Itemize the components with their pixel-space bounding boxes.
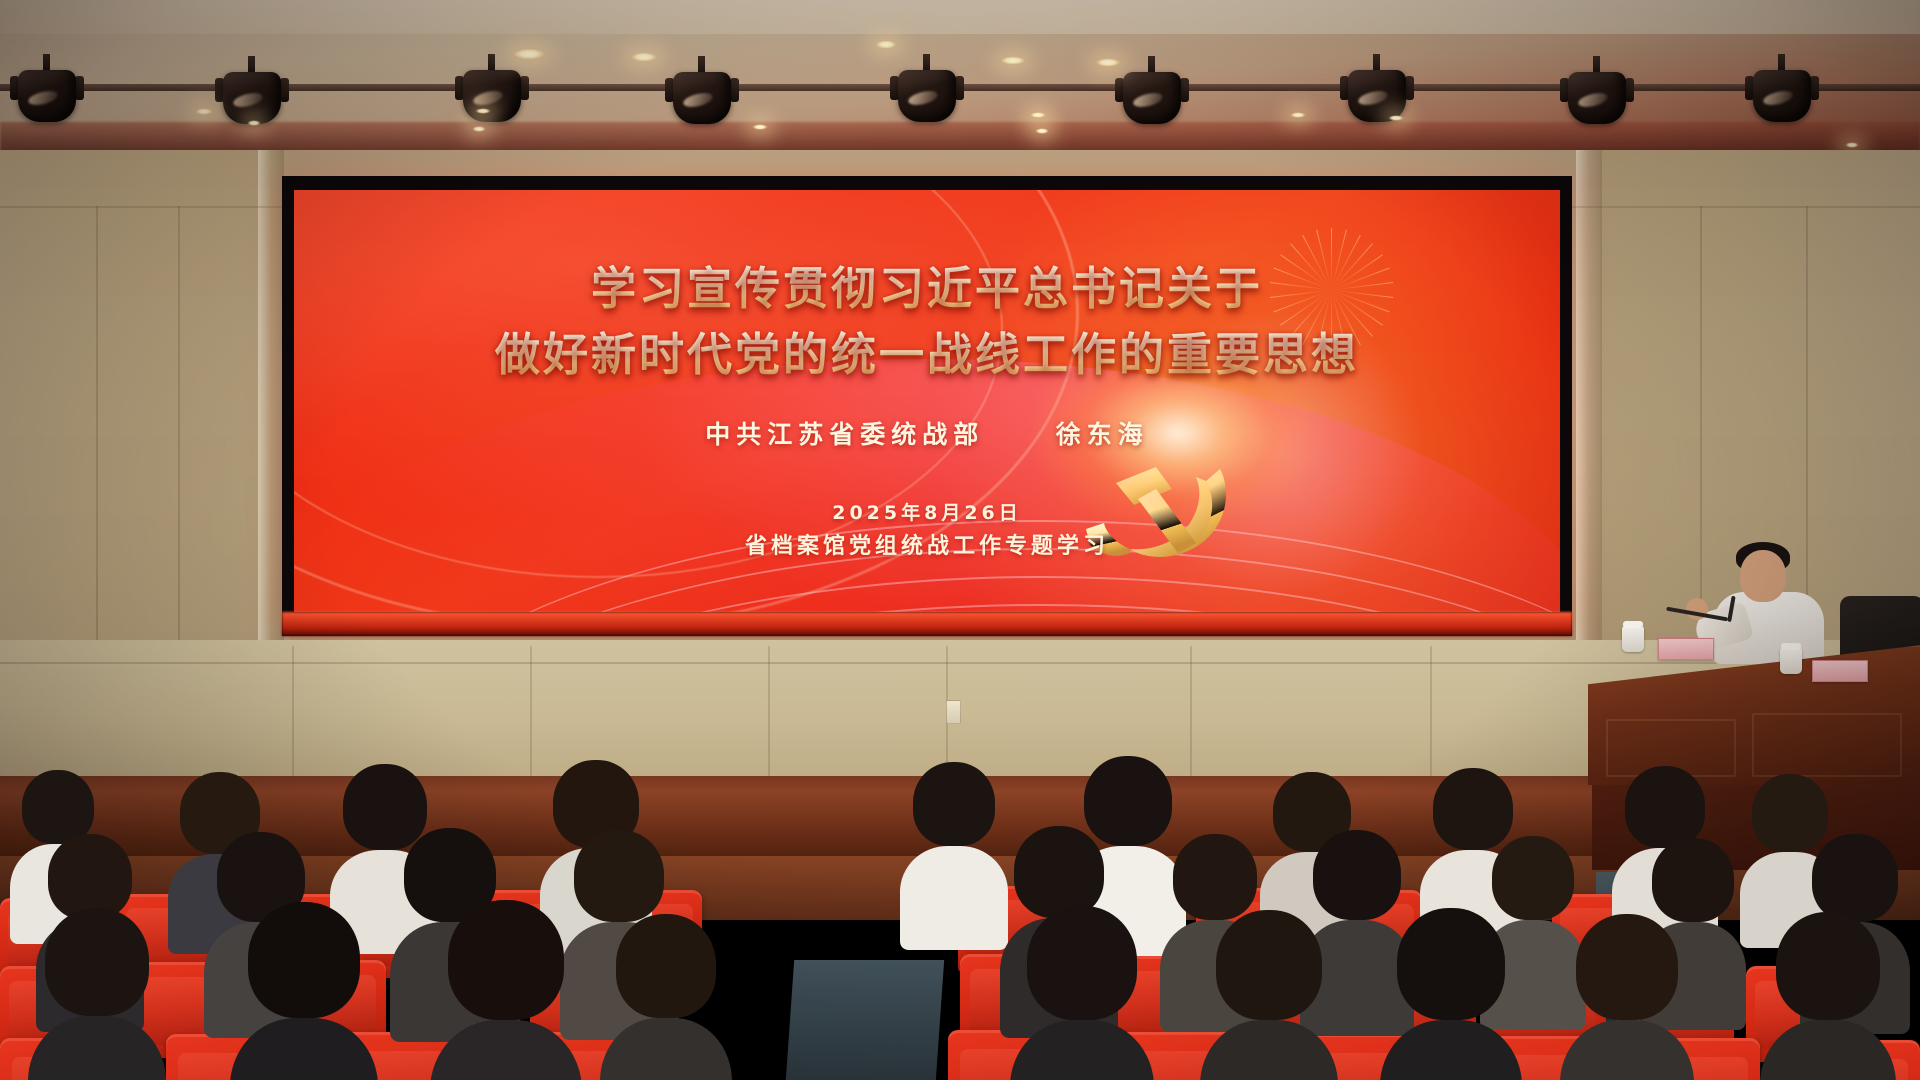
lower-wall-v5	[1190, 646, 1192, 776]
audience-member-head	[616, 914, 716, 1018]
tea-cup-right	[1780, 648, 1802, 674]
audience-member-body	[28, 1016, 166, 1080]
screen-bottom-glow	[282, 612, 1572, 636]
audience-member	[600, 914, 732, 1080]
wall-seam-v1	[96, 206, 98, 668]
audience-member-head	[913, 762, 995, 846]
pilaster-left	[258, 150, 284, 670]
audience-member-body	[600, 1018, 732, 1080]
par-can-stage-light	[890, 70, 964, 126]
scene-root: 学习宣传贯彻习近平总书记关于 做好新时代党的统一战线工作的重要思想 中共江苏省委…	[0, 0, 1920, 1080]
speaker-person	[1700, 540, 1850, 670]
par-can-stage-light	[1115, 72, 1189, 128]
aisle-floor-center	[786, 960, 944, 1080]
audience-member-body	[1010, 1020, 1154, 1080]
screen-date: 2025年8月26日	[294, 498, 1560, 525]
table-panel-2	[1752, 713, 1902, 777]
par-can-stage-light	[455, 70, 529, 126]
pilaster-right	[1576, 150, 1602, 670]
audience-member-head	[1625, 766, 1705, 848]
ceiling-top-strip	[0, 0, 1920, 34]
presenter-org: 中共江苏省委统战部	[705, 420, 984, 449]
lower-wall-v1	[292, 646, 294, 776]
recessed-downlight	[1030, 112, 1046, 118]
audience-member-head	[448, 900, 564, 1020]
audience-member-head	[45, 908, 149, 1016]
audience-member-body	[1760, 1020, 1896, 1080]
screen-text-block: 学习宣传贯彻习近平总书记关于 做好新时代党的统一战线工作的重要思想 中共江苏省委…	[294, 190, 1560, 612]
recessed-downlight	[875, 40, 897, 49]
recessed-downlight	[475, 108, 491, 114]
audience-member	[1010, 906, 1154, 1080]
audience-member-head	[1014, 826, 1104, 918]
par-can-stage-light	[1560, 72, 1634, 128]
audience-member-head	[574, 830, 664, 922]
audience-member-head	[1173, 834, 1257, 920]
audience-member-head	[1652, 838, 1734, 922]
audience-member-head	[248, 902, 360, 1018]
recessed-downlight	[195, 108, 213, 115]
lower-wall-v2	[530, 646, 532, 776]
audience-member	[1200, 910, 1338, 1080]
audience-member	[28, 908, 166, 1080]
audience-member-head	[1776, 912, 1880, 1020]
audience-member	[1560, 914, 1694, 1080]
audience-member-head	[1812, 834, 1898, 922]
led-screen-frame: 学习宣传贯彻习近平总书记关于 做好新时代党的统一战线工作的重要思想 中共江苏省委…	[282, 176, 1572, 636]
audience-area	[0, 790, 1920, 1080]
wall-power-outlet	[946, 700, 961, 724]
recessed-downlight	[1095, 58, 1121, 67]
audience-member-head	[1397, 908, 1505, 1020]
audience-member-head	[1027, 906, 1137, 1020]
par-can-stage-light	[665, 72, 739, 128]
audience-member-body	[430, 1020, 582, 1080]
recessed-downlight	[472, 126, 486, 132]
recessed-downlight	[1290, 112, 1306, 118]
recessed-downlight	[512, 48, 546, 60]
lower-wall-seam	[0, 662, 1920, 664]
wall-seam-v2	[178, 206, 180, 668]
audience-member-head	[1216, 910, 1322, 1020]
audience-member	[1380, 908, 1522, 1080]
audience-member	[900, 762, 1008, 950]
audience-member-body	[1200, 1020, 1338, 1080]
recessed-downlight	[1388, 115, 1404, 121]
screen-title-line-1: 学习宣传贯彻习近平总书记关于	[294, 252, 1560, 317]
audience-member	[430, 900, 582, 1080]
screen-title-line-2: 做好新时代党的统一战线工作的重要思想	[294, 318, 1560, 383]
audience-member-head	[22, 770, 94, 844]
audience-member-body	[230, 1018, 378, 1080]
screen-subtitle: 省档案馆党组统战工作专题学习	[294, 528, 1560, 560]
speaker-head	[1740, 550, 1786, 602]
presenter-name: 徐东海	[1056, 420, 1149, 449]
audience-member-body	[1560, 1020, 1694, 1080]
recessed-downlight	[1035, 128, 1049, 134]
recessed-downlight	[752, 124, 768, 130]
audience-member	[230, 902, 378, 1080]
name-card-left	[1658, 638, 1714, 660]
par-can-stage-light	[10, 70, 84, 126]
tea-cup-left	[1622, 626, 1644, 652]
audience-member-body	[900, 846, 1008, 950]
par-can-stage-light	[1745, 70, 1819, 126]
recessed-downlight	[1845, 142, 1859, 148]
audience-member-head	[1313, 830, 1401, 920]
recessed-downlight	[1000, 56, 1026, 65]
wall-left-column	[0, 150, 290, 670]
audience-member-head	[1576, 914, 1678, 1020]
recessed-downlight	[630, 52, 658, 62]
lower-wall-v6	[1430, 646, 1432, 776]
audience-member-body	[1380, 1020, 1522, 1080]
screen-presenter-line: 中共江苏省委统战部 徐东海	[294, 415, 1560, 451]
lower-wall-v3	[768, 646, 770, 776]
name-card-right	[1812, 660, 1868, 682]
led-screen[interactable]: 学习宣传贯彻习近平总书记关于 做好新时代党的统一战线工作的重要思想 中共江苏省委…	[294, 190, 1560, 612]
audience-member	[1760, 912, 1896, 1080]
recessed-downlight	[247, 120, 261, 126]
